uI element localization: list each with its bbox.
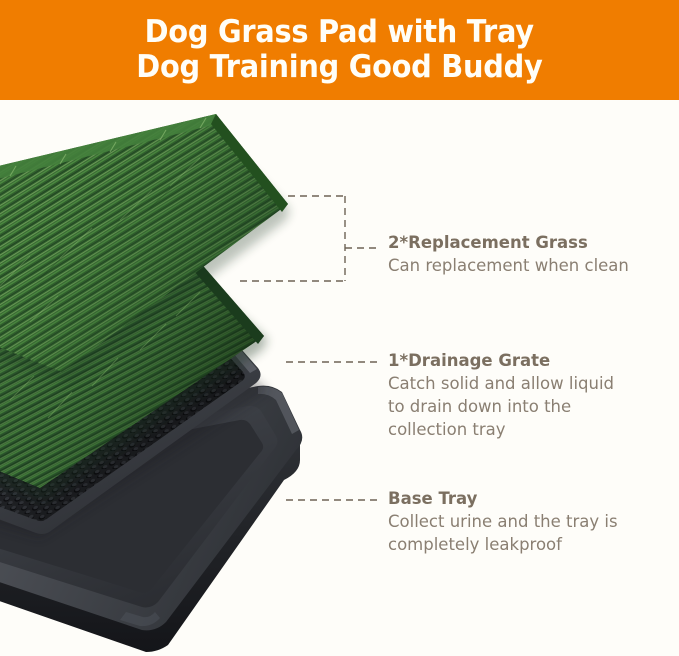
callout-body-line: to drain down into the [388,395,678,418]
callout-title-base-tray: Base Tray [388,488,678,510]
callout-body-line: Can replacement when clean [388,254,678,277]
callout-body-base-tray: Collect urine and the tray is completely… [388,510,678,556]
callout-replacement-grass: 2*Replacement Grass Can replacement when… [388,232,678,277]
callout-body-drainage-grate: Catch solid and allow liquid to drain do… [388,372,678,441]
title-banner: Dog Grass Pad with Tray Dog Training Goo… [0,0,679,100]
callout-body-line: collection tray [388,418,678,441]
callout-body-line: completely leakproof [388,533,678,556]
callout-body-line: Collect urine and the tray is [388,510,678,533]
callout-drainage-grate: 1*Drainage Grate Catch solid and allow l… [388,350,678,441]
callout-title-drainage-grate: 1*Drainage Grate [388,350,678,372]
callout-base-tray: Base Tray Collect urine and the tray is … [388,488,678,556]
callout-title-replacement-grass: 2*Replacement Grass [388,232,678,254]
product-image [0,100,370,656]
callout-body-line: Catch solid and allow liquid [388,372,678,395]
title-line-2: Dog Training Good Buddy [136,50,542,85]
title-line-1: Dog Grass Pad with Tray [145,15,534,50]
callout-body-replacement-grass: Can replacement when clean [388,254,678,277]
